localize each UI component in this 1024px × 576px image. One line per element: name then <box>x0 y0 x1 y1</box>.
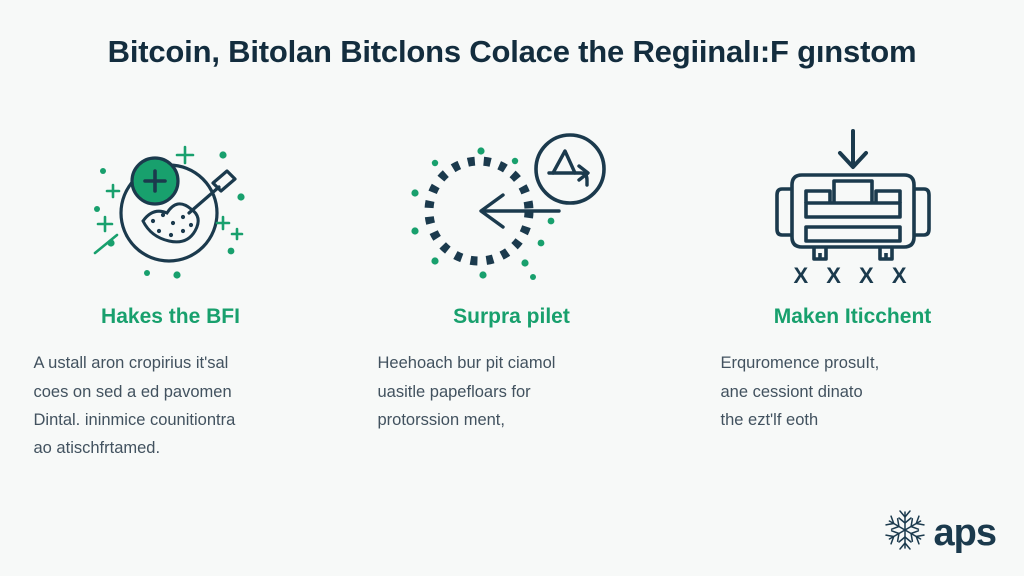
machine-download-icon: X X X X <box>743 120 963 290</box>
feature-column-2: Surpra pilet Heehoach bur pit ciamol uas… <box>341 120 682 434</box>
page-title: Bitcoin, Bitolan Bitclons Colace the Reg… <box>0 34 1024 70</box>
feature-column-3: X X X X Maken Iticchent Erquromence pros… <box>682 120 1023 434</box>
feature-body-2: Heehoach bur pit ciamol uasitle papefloa… <box>378 349 656 434</box>
snowflake-tree-icon <box>882 507 928 558</box>
title-bar: Bitcoin, Bitolan Bitclons Colace the Reg… <box>0 34 1024 70</box>
brand-logo: aps <box>882 507 996 558</box>
feature-column-1: Hakes the BFI A ustall aron cropirius it… <box>0 120 341 463</box>
sparkle-coin-plus-icon <box>61 120 281 290</box>
logo-text: aps <box>934 514 996 552</box>
body-line: coes on sed a ed pavomen <box>34 378 312 406</box>
icon-caption: X X X X <box>793 263 912 288</box>
feature-body-3: Erquromence prosuIt, ane cessiont dinato… <box>721 349 999 434</box>
feature-heading-3: Maken Iticchent <box>774 304 932 329</box>
body-line: protorssion ment, <box>378 406 656 434</box>
body-line: Dintal. ininmice counitiontra <box>34 406 312 434</box>
body-line: ao atischfrtamed. <box>34 434 312 462</box>
body-line: the ezt'lf eoth <box>721 406 999 434</box>
body-line: uasitle papefloars for <box>378 378 656 406</box>
infographic-canvas: Bitcoin, Bitolan Bitclons Colace the Reg… <box>0 0 1024 576</box>
body-line: Erquromence prosuIt, <box>721 349 999 377</box>
dashed-circle-arrow-icon <box>402 120 622 290</box>
feature-heading-2: Surpra pilet <box>453 304 570 329</box>
body-line: ane cessiont dinato <box>721 378 999 406</box>
body-line: A ustall aron cropirius it'sal <box>34 349 312 377</box>
body-line: Heehoach bur pit ciamol <box>378 349 656 377</box>
feature-heading-1: Hakes the BFI <box>101 304 240 329</box>
feature-columns: Hakes the BFI A ustall aron cropirius it… <box>0 120 1024 463</box>
feature-body-1: A ustall aron cropirius it'sal coes on s… <box>34 349 312 463</box>
